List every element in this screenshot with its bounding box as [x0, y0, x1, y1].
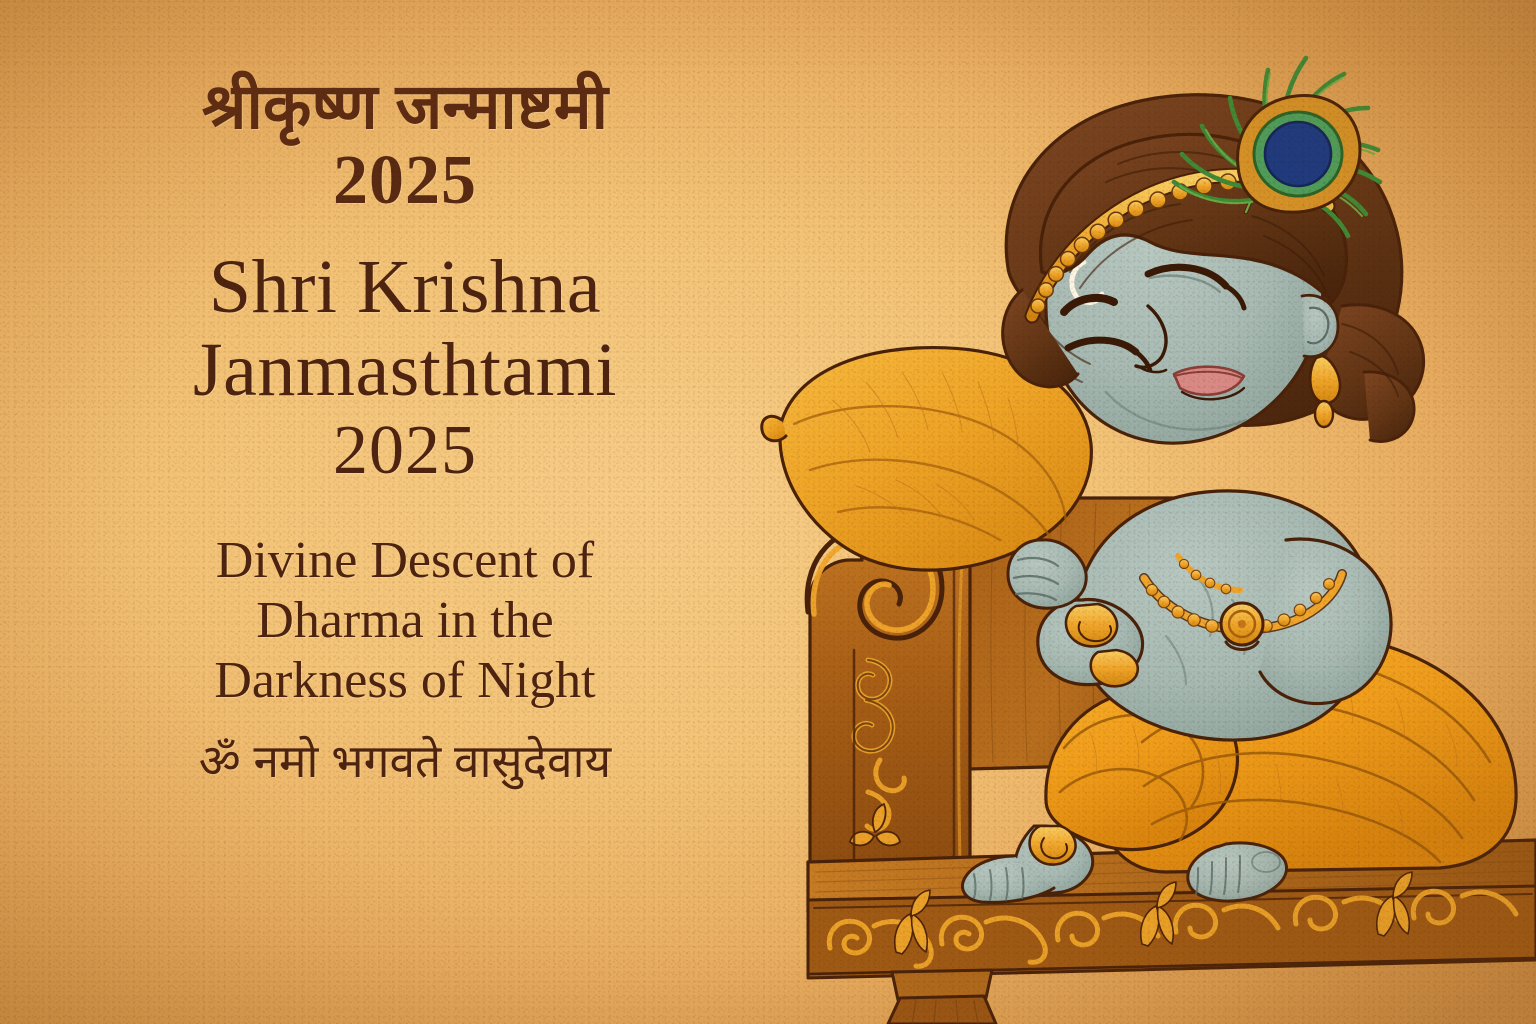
couch-leg [888, 970, 996, 1024]
earring [1310, 356, 1340, 427]
english-title-line1: Shri Krishna [40, 246, 770, 329]
subtitle-line1: Divine Descent of [40, 531, 770, 591]
mantra-text: ॐ नमो भगवते वासुदेवाय [40, 734, 770, 789]
english-title-year: 2025 [40, 412, 770, 489]
poster-text-block: श्रीकृष्ण जन्माष्टमी 2025 Shri Krishna J… [0, 0, 810, 1024]
hindi-title: श्रीकृष्ण जन्माष्टमी [40, 72, 770, 143]
hindi-title-year: 2025 [40, 145, 770, 216]
janmashtami-poster: श्रीकृष्ण जन्माष्टमी 2025 Shri Krishna J… [0, 0, 1536, 1024]
subtitle-line2: Dharma in the [40, 591, 770, 651]
krishna-illustration [746, 0, 1536, 1024]
english-title-line2: Janmasthtami [40, 329, 770, 412]
subtitle-line3: Darkness of Night [40, 651, 770, 711]
